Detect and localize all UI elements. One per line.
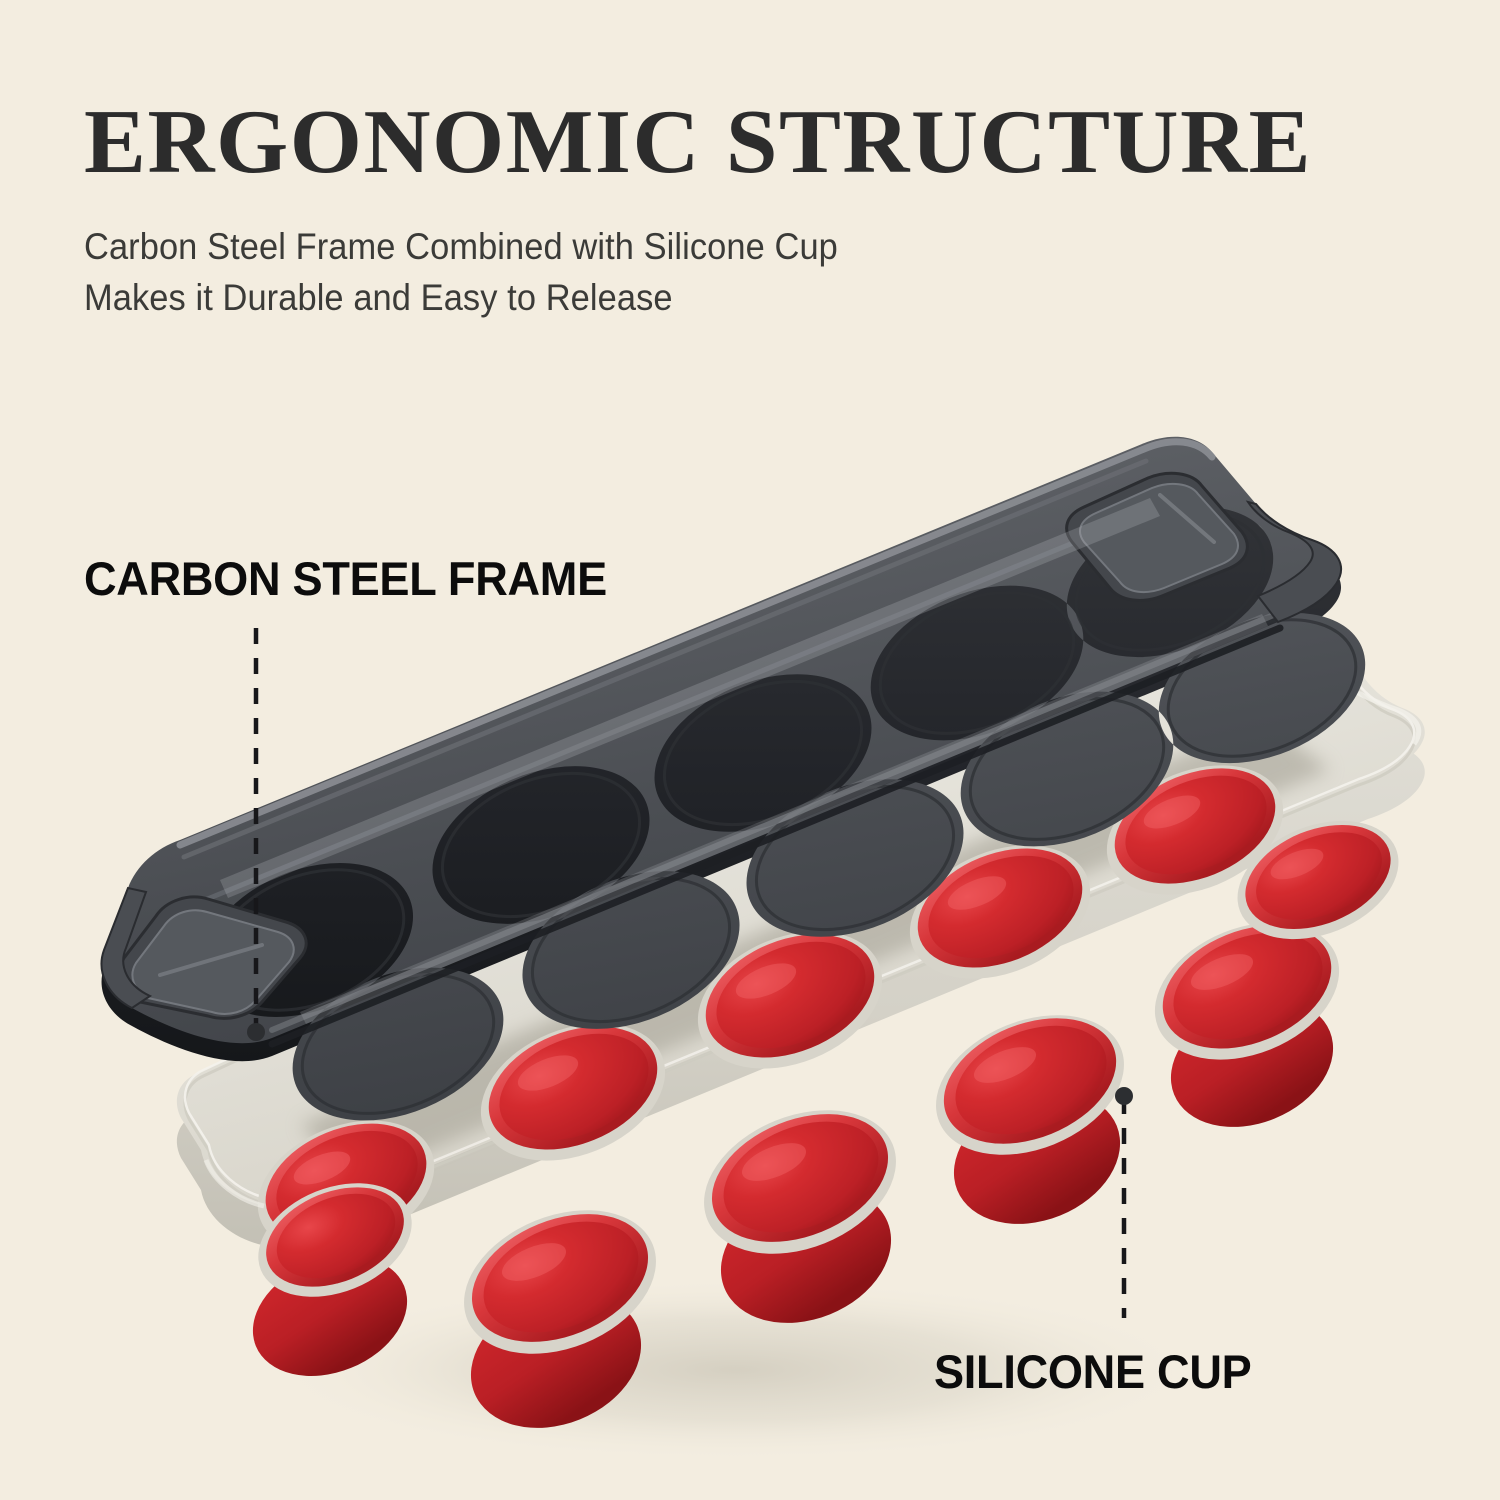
page-title: ERGONOMIC STRUCTURE [84,96,1451,187]
infographic-canvas: ERGONOMIC STRUCTURE Carbon Steel Frame C… [0,0,1500,1500]
subtitle-line-1: Carbon Steel Frame Combined with Silicon… [84,221,1330,272]
callout-label-carbon-steel-frame: CARBON STEEL FRAME [84,551,607,606]
subtitle-line-2: Makes it Durable and Easy to Release [84,272,1330,323]
headline-block: ERGONOMIC STRUCTURE Carbon Steel Frame C… [84,96,1424,323]
subtitle: Carbon Steel Frame Combined with Silicon… [84,221,1330,323]
callout-label-silicone-cup: SILICONE CUP [934,1344,1251,1399]
